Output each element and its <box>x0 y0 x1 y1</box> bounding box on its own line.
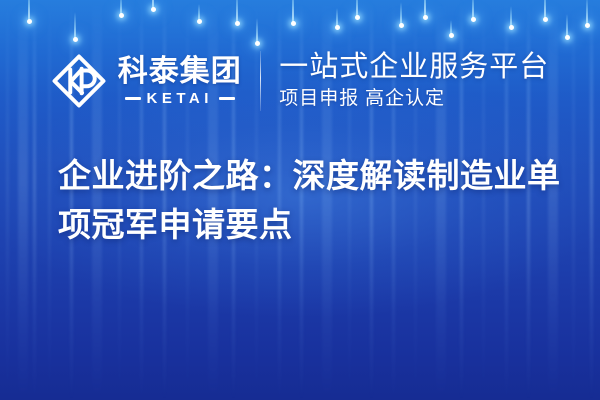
brand-name-en-row: KETAI <box>125 91 235 106</box>
promo-banner: 科泰集团 KETAI 一站式企业服务平台 项目申报 高企认定 企业进阶之路：深度… <box>0 0 600 400</box>
banner-header: 科泰集团 KETAI 一站式企业服务平台 项目申报 高企认定 <box>0 42 600 120</box>
brand-wordmark: 科泰集团 KETAI <box>118 56 242 106</box>
brand-logo: 科泰集团 KETAI <box>51 53 242 109</box>
tagline-main: 一站式企业服务平台 <box>279 51 549 84</box>
tagline-sub: 项目申报 高企认定 <box>279 88 549 111</box>
page-title: 企业进阶之路：深度解读制造业单项冠军申请要点 <box>58 152 564 250</box>
brand-name-cn: 科泰集团 <box>118 56 242 88</box>
ketai-diamond-monogram-icon <box>51 53 107 109</box>
header-divider <box>260 51 262 111</box>
tagline-block: 一站式企业服务平台 项目申报 高企认定 <box>279 51 549 110</box>
title-block: 企业进阶之路：深度解读制造业单项冠军申请要点 <box>58 152 564 250</box>
dash-left-icon <box>125 97 141 100</box>
brand-name-en: KETAI <box>147 91 213 106</box>
dash-right-icon <box>219 97 235 100</box>
